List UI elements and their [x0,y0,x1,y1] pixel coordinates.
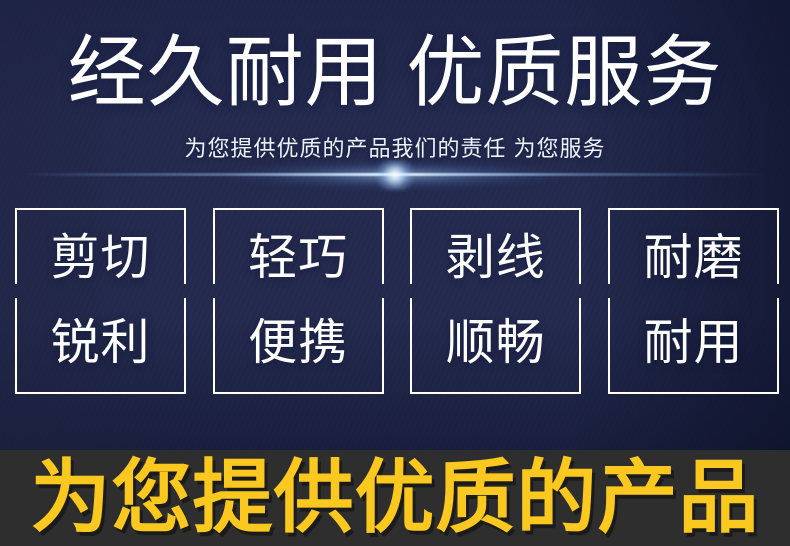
promo-banner: 经久耐用 优质服务 为您提供优质的产品我们的责任 为您服务 剪切 锐利 轻巧 [0,0,790,546]
frame-top-rail [410,208,581,210]
feature-line-2: 耐用 [608,301,779,386]
frame-top-rail [608,208,779,210]
frame-bottom-rail [410,392,581,394]
headline-subtitle: 为您提供优质的产品我们的责任 为您服务 [0,134,790,164]
feature-box-3: 剥线 顺畅 [410,208,581,394]
feature-line-2: 锐利 [15,301,186,386]
feature-label-2: 轻巧 便携 [213,216,384,386]
feature-line-1: 耐磨 [643,231,743,285]
feature-line-1: 剪切 [50,231,150,285]
feature-box-list: 剪切 锐利 轻巧 便携 剥线 顺畅 [15,208,779,394]
feature-label-3: 剥线 顺畅 [410,216,581,386]
feature-box-1: 剪切 锐利 [15,208,186,394]
feature-box-4: 耐磨 耐用 [608,208,779,394]
frame-top-rail [15,208,186,210]
frame-bottom-rail [15,392,186,394]
footer-slogan: 为您提供优质的产品 [0,450,790,546]
feature-label-4: 耐磨 耐用 [608,216,779,386]
feature-box-2: 轻巧 便携 [213,208,384,394]
frame-top-rail [213,208,384,210]
footer-bar: 为您提供优质的产品 [0,450,790,546]
headline-title: 经久耐用 优质服务 [0,24,790,120]
feature-label-1: 剪切 锐利 [15,216,186,386]
frame-bottom-rail [608,392,779,394]
feature-line-1: 剥线 [446,231,546,285]
feature-line-1: 轻巧 [248,231,348,285]
feature-line-2: 便携 [213,301,384,386]
feature-line-2: 顺畅 [410,301,581,386]
frame-bottom-rail [213,392,384,394]
